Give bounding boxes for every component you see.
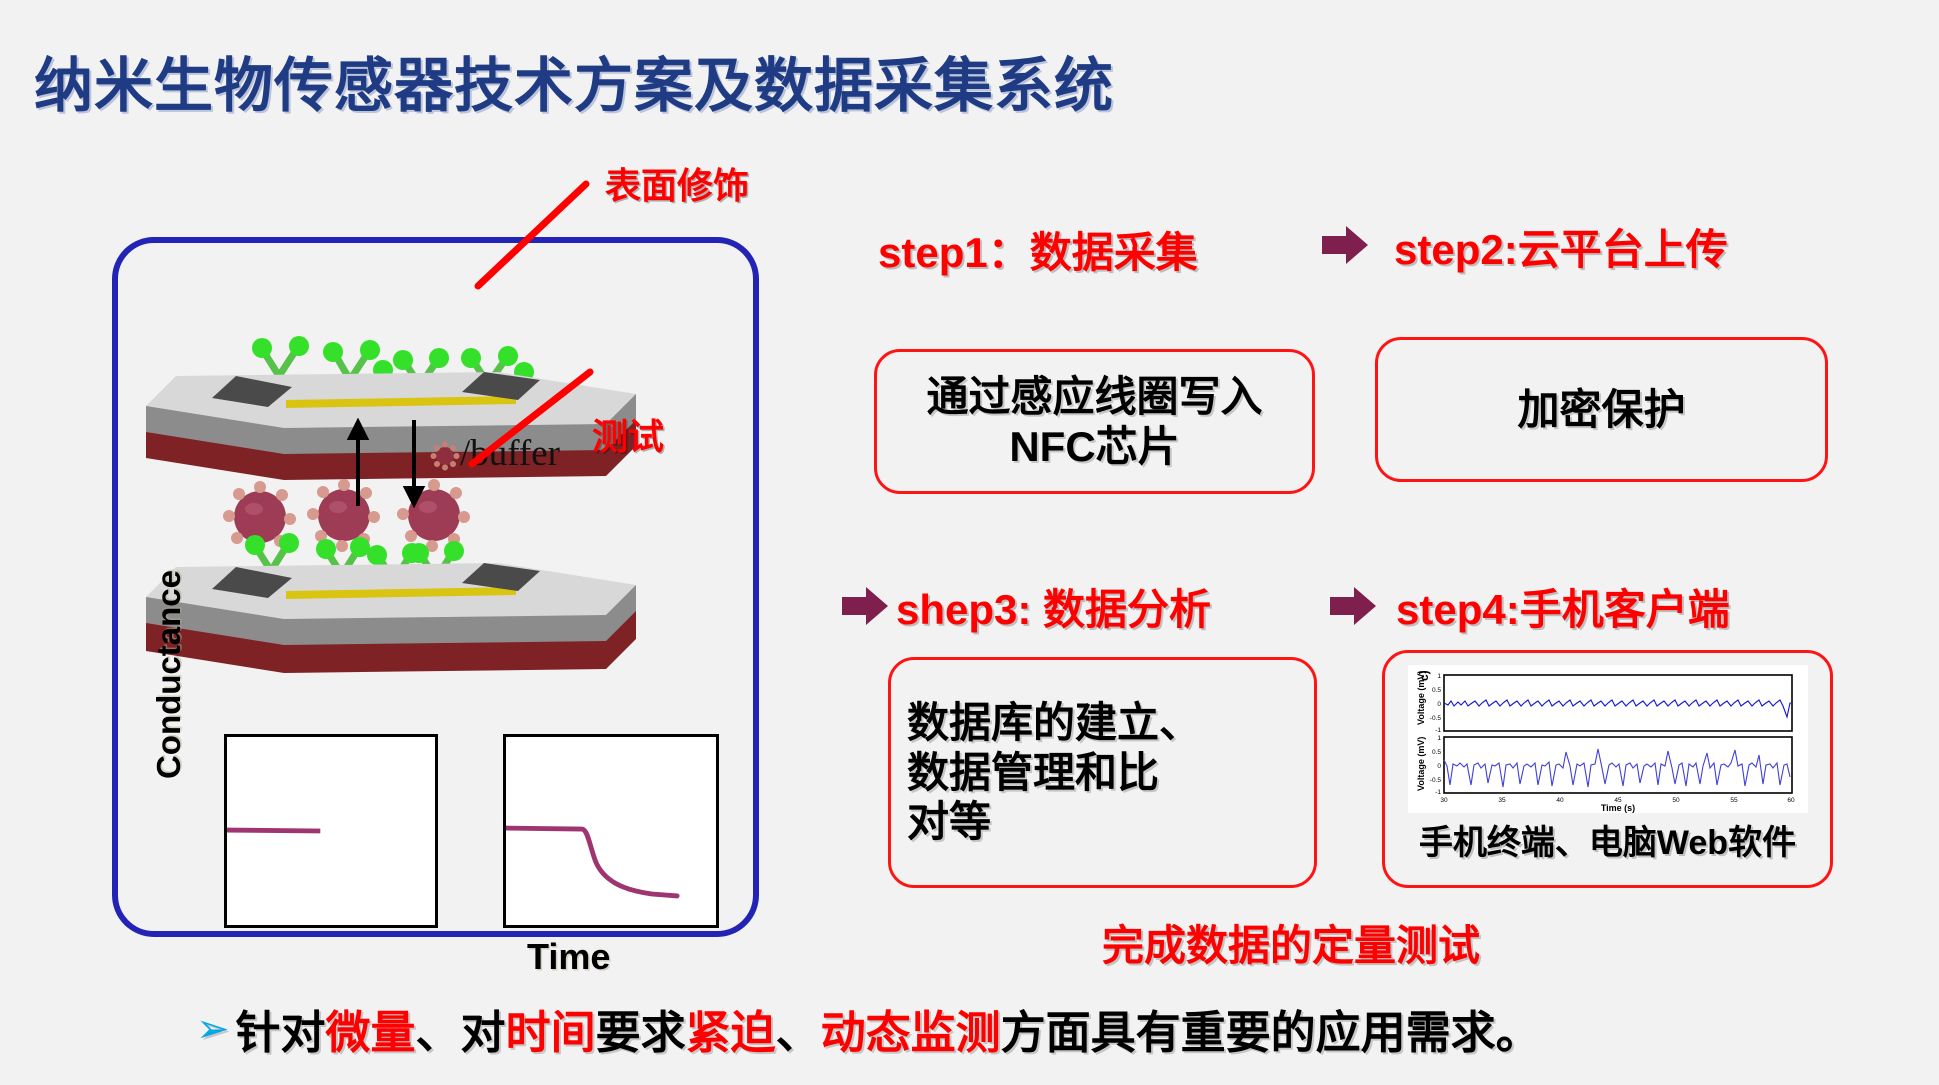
slide-root: 纳米生物传感器技术方案及数据采集系统: [0, 0, 1939, 1085]
annotation-surface-modification: 表面修饰: [605, 157, 749, 209]
step3-content-box: 数据库的建立、 数据管理和比 对等: [888, 657, 1317, 888]
flow-arrow-icon-1: [1322, 224, 1368, 266]
step2-content-box: 加密保护: [1375, 337, 1828, 482]
step2-body: 加密保护: [1501, 385, 1701, 435]
bullet-segment-5: 紧迫: [686, 1007, 776, 1058]
test-leader-line: [466, 366, 596, 471]
conductance-chart-after: [503, 734, 719, 928]
svg-text:-0.5: -0.5: [1429, 715, 1441, 722]
bullet-segment-7: 动态监测: [821, 1007, 1001, 1058]
step1-body-line-2: NFC芯片: [926, 422, 1262, 472]
bullet-arrow-icon: ➢: [196, 1006, 230, 1052]
virus-icon: [430, 441, 460, 471]
bullet-segment-2: 、对: [416, 1007, 506, 1058]
svg-text:0: 0: [1437, 701, 1441, 708]
bullet-segment-4: 要求: [596, 1007, 686, 1058]
step2-heading: step2:云平台上传: [1394, 216, 1728, 277]
flow-arrow-icon-2: [842, 585, 888, 627]
conductance-chart-before: [224, 734, 438, 928]
conductance-axis-label: Conductance: [150, 570, 188, 779]
svg-text:Voltage (mV): Voltage (mV): [1416, 737, 1426, 791]
svg-text:-0.5: -0.5: [1429, 777, 1441, 784]
bullet-segment-1: 微量: [326, 1007, 416, 1058]
bullet-segment-0: 针对: [236, 1007, 326, 1058]
bullet-segment-8: 方面具有重要的应用需求。: [1001, 1007, 1541, 1058]
svg-text:Voltage (mV): Voltage (mV): [1416, 671, 1426, 725]
page-title: 纳米生物传感器技术方案及数据采集系统: [34, 38, 1114, 123]
footer-bullet: ➢ 针对微量、对时间要求紧迫、动态监测方面具有重要的应用需求。: [196, 996, 1541, 1061]
step1-content-box: 通过感应线圈写入 NFC芯片: [874, 349, 1315, 494]
svg-text:60: 60: [1787, 797, 1795, 804]
step3-body-line-3: 对等: [907, 797, 1298, 847]
step1-body-line-1: 通过感应线圈写入: [926, 372, 1262, 422]
svg-text:40: 40: [1556, 797, 1564, 804]
bullet-segment-3: 时间: [506, 1007, 596, 1058]
svg-text:35: 35: [1498, 797, 1506, 804]
svg-text:0.5: 0.5: [1431, 687, 1440, 694]
svg-text:Time (s): Time (s): [1600, 803, 1634, 813]
svg-text:1: 1: [1437, 735, 1441, 742]
step4-heading: step4:手机客户端: [1396, 576, 1730, 637]
step4-caption: 手机终端、电脑Web软件: [1419, 815, 1796, 864]
step4-content-box: c) Voltage (mV) Voltage (mV) 1 0.5 0 -0.…: [1382, 650, 1833, 888]
svg-text:1: 1: [1437, 673, 1441, 680]
surface-modification-leader-line: [472, 178, 592, 293]
svg-text:-1: -1: [1435, 727, 1441, 734]
step3-heading: shep3: 数据分析: [896, 576, 1211, 637]
step3-body-line-2: 数据管理和比: [907, 748, 1298, 798]
conclusion-text: 完成数据的定量测试: [1102, 912, 1480, 973]
svg-text:-1: -1: [1435, 789, 1441, 796]
step1-body: 通过感应线圈写入 NFC芯片: [910, 372, 1278, 471]
flow-arrow-icon-3: [1330, 585, 1376, 627]
step1-heading: step1：数据采集: [878, 219, 1198, 280]
svg-text:30: 30: [1440, 797, 1448, 804]
step3-body: 数据库的建立、 数据管理和比 对等: [891, 698, 1314, 847]
svg-text:0: 0: [1437, 763, 1441, 770]
bullet-segment-6: 、: [776, 1007, 821, 1058]
step3-body-line-1: 数据库的建立、: [907, 698, 1298, 748]
time-axis-label: Time: [527, 936, 610, 978]
footer-bullet-text: 针对微量、对时间要求紧迫、动态监测方面具有重要的应用需求。: [236, 996, 1541, 1061]
mobile-client-signal-chart: c) Voltage (mV) Voltage (mV) 1 0.5 0 -0.…: [1408, 665, 1808, 813]
svg-text:0.5: 0.5: [1431, 749, 1440, 756]
svg-text:55: 55: [1730, 797, 1738, 804]
annotation-test: 测试: [592, 408, 664, 460]
svg-text:50: 50: [1672, 797, 1680, 804]
